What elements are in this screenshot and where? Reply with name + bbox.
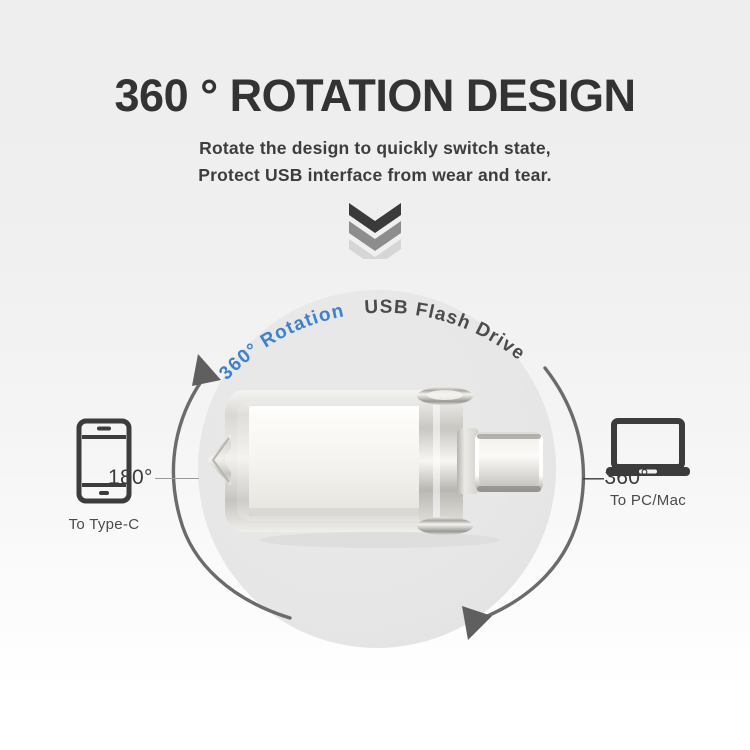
product-feature-page: 360 ° ROTATION DESIGN Rotate the design … — [0, 0, 750, 750]
chevron-down-stack-icon — [345, 203, 405, 259]
drive-body-face — [249, 406, 433, 516]
callout-right-caption: To PC/Mac — [548, 492, 748, 509]
angle-dash: — — [583, 466, 604, 489]
callout-right: To PC/Mac — [548, 418, 748, 509]
drive-swivel-barrel — [419, 396, 463, 526]
leader-line-left — [155, 478, 199, 479]
page-subtitle: Rotate the design to quickly switch stat… — [0, 121, 750, 189]
subtitle-line-2: Protect USB interface from wear and tear… — [0, 162, 750, 189]
angle-right-value: 360° — [604, 466, 649, 489]
arrowhead-right — [462, 606, 492, 640]
subtitle-line-1: Rotate the design to quickly switch stat… — [0, 135, 750, 162]
callout-left-caption: To Type-C — [4, 516, 204, 533]
angle-label-right: —360° — [583, 466, 649, 490]
angle-label-left: 180° — [108, 466, 153, 490]
header: 360 ° ROTATION DESIGN Rotate the design … — [0, 0, 750, 189]
usb-flash-drive-swivel-icon — [205, 380, 550, 552]
rotation-diagram: 360° Rotation USB Flash Drive — [0, 268, 750, 678]
smartphone-icon — [76, 418, 132, 504]
drive-hinge-bottom — [417, 517, 473, 535]
callout-left: To Type-C — [4, 418, 204, 533]
page-title: 360 ° ROTATION DESIGN — [0, 0, 750, 121]
